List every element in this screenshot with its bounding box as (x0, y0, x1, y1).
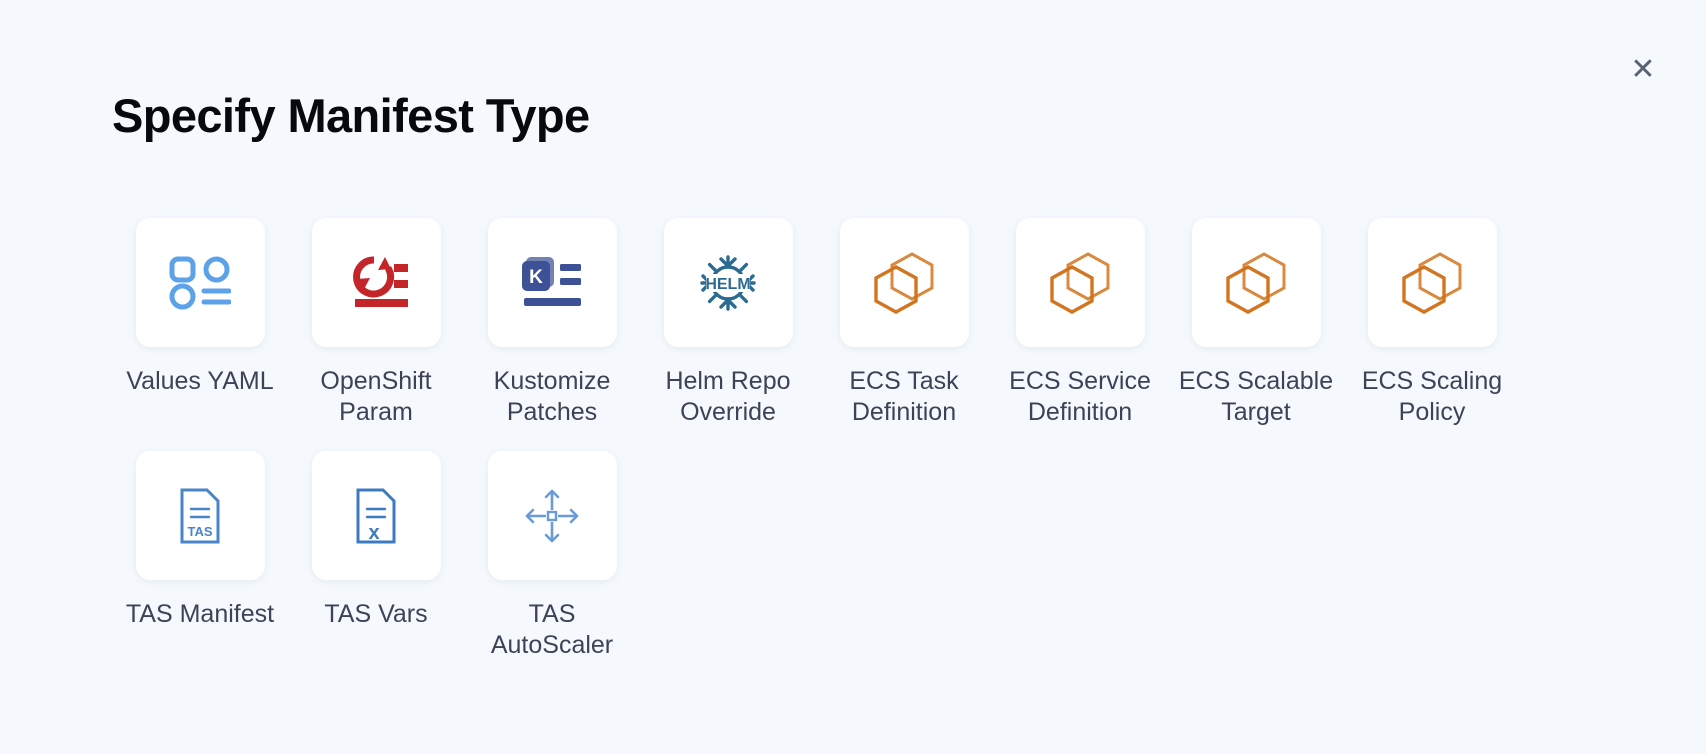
page-title: Specify Manifest Type (112, 88, 590, 143)
manifest-type-tile[interactable]: HELM (664, 218, 793, 347)
helm-repo-override-icon: HELM (697, 253, 759, 313)
manifest-type-label: OpenShift Param (291, 366, 461, 428)
manifest-type-cell: ECS Scaling Policy (1344, 218, 1520, 428)
manifest-type-label: TAS AutoScaler (467, 599, 637, 661)
tas-manifest-icon: TAS (176, 487, 224, 545)
ecs-hexagon-icon (872, 250, 936, 316)
manifest-type-cell: HELMHelm Repo Override (640, 218, 816, 428)
svg-text:TAS: TAS (187, 524, 212, 539)
manifest-type-cell: OpenShift Param (288, 218, 464, 428)
manifest-type-tile[interactable]: K (488, 218, 617, 347)
manifest-type-tile[interactable] (312, 218, 441, 347)
manifest-type-label: Values YAML (126, 366, 273, 397)
svg-text:HELM: HELM (705, 276, 750, 293)
manifest-type-cell: Values YAML (112, 218, 288, 428)
manifest-type-label: Kustomize Patches (467, 366, 637, 428)
manifest-type-cell: ECS Service Definition (992, 218, 1168, 428)
manifest-type-tile[interactable] (488, 451, 617, 580)
ecs-hexagon-icon (1224, 250, 1288, 316)
manifest-type-tile[interactable] (1368, 218, 1497, 347)
manifest-type-tile[interactable] (136, 218, 265, 347)
close-icon[interactable]: ✕ (1623, 50, 1663, 90)
manifest-type-label: TAS Vars (324, 599, 427, 630)
values-yaml-icon (169, 256, 231, 310)
svg-text:x: x (368, 522, 379, 544)
manifest-type-tile[interactable] (1192, 218, 1321, 347)
manifest-type-label: ECS Task Definition (819, 366, 989, 428)
kustomize-patches-icon: K (520, 255, 584, 311)
manifest-type-tile[interactable]: x (312, 451, 441, 580)
manifest-type-cell: KKustomize Patches (464, 218, 640, 428)
openshift-param-icon (343, 254, 409, 312)
manifest-type-label: ECS Scalable Target (1171, 366, 1341, 428)
manifest-type-grid: Values YAMLOpenShift ParamKKustomize Pat… (112, 218, 1562, 684)
manifest-type-label: ECS Scaling Policy (1347, 366, 1517, 428)
svg-text:K: K (529, 267, 543, 288)
manifest-type-tile[interactable] (840, 218, 969, 347)
specify-manifest-type-dialog: ✕ Specify Manifest Type Values YAMLOpenS… (0, 0, 1706, 754)
manifest-type-tile[interactable]: TAS (136, 451, 265, 580)
manifest-type-label: ECS Service Definition (995, 366, 1165, 428)
tas-vars-icon: x (352, 487, 400, 545)
manifest-type-label: Helm Repo Override (643, 366, 813, 428)
manifest-type-tile[interactable] (1016, 218, 1145, 347)
ecs-hexagon-icon (1048, 250, 1112, 316)
manifest-type-cell: TAS AutoScaler (464, 451, 640, 661)
manifest-type-cell: ECS Scalable Target (1168, 218, 1344, 428)
manifest-type-label: TAS Manifest (126, 599, 274, 630)
tas-autoscaler-icon (523, 487, 581, 545)
manifest-type-cell: xTAS Vars (288, 451, 464, 661)
ecs-hexagon-icon (1400, 250, 1464, 316)
manifest-type-cell: TASTAS Manifest (112, 451, 288, 661)
manifest-type-cell: ECS Task Definition (816, 218, 992, 428)
